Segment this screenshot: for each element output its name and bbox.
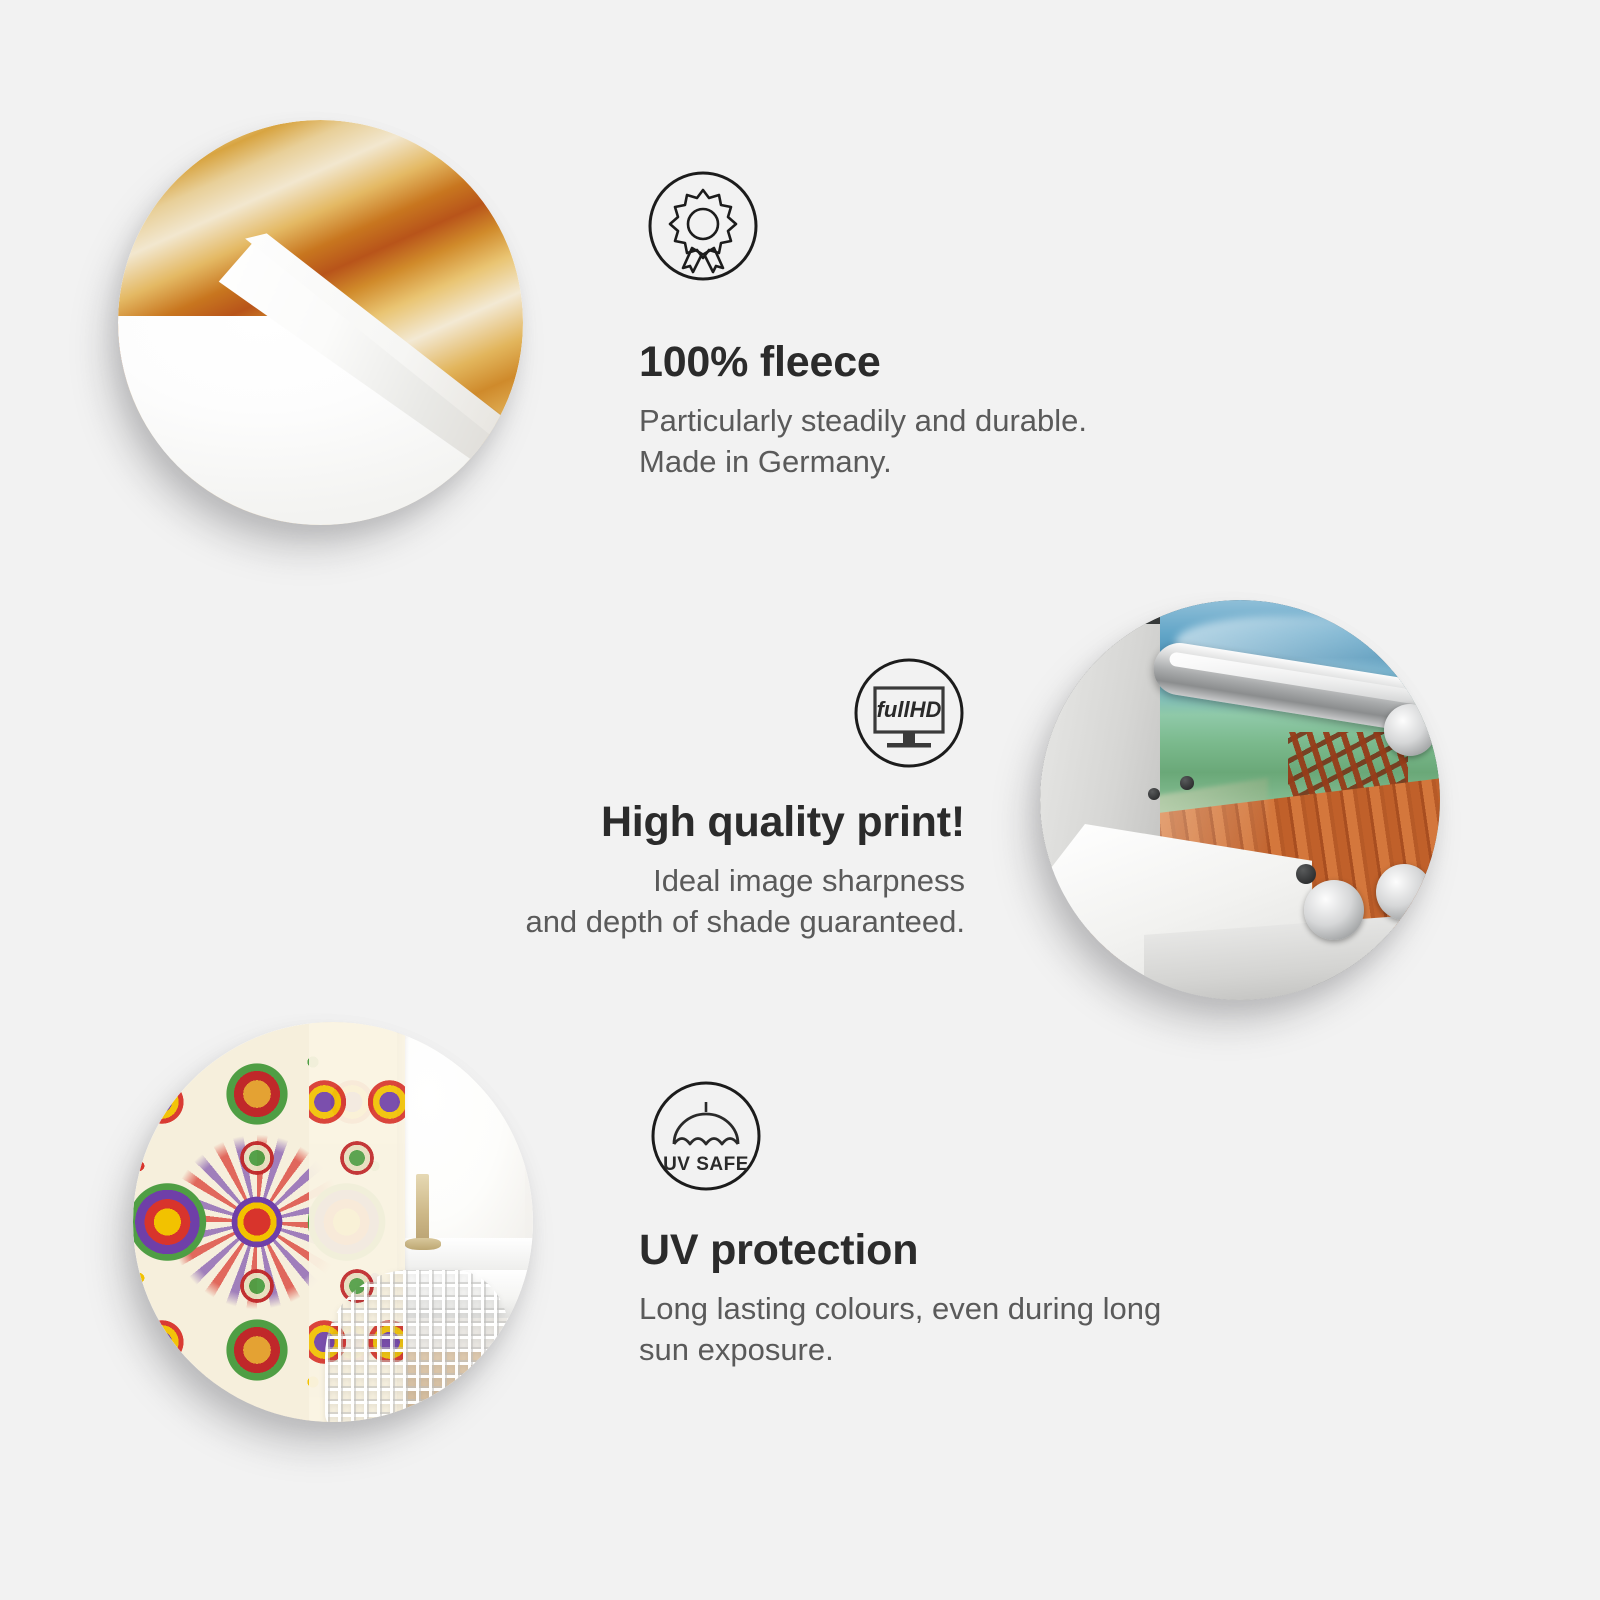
feature-fleece-text: 100% fleece Particularly steadily and du… — [639, 340, 1339, 483]
photo-clip — [133, 1022, 533, 1422]
printer-wheel — [1304, 880, 1364, 940]
feature-uv-body-line1: Long lasting colours, even during long — [639, 1289, 1359, 1330]
mandala-wallpaper-room-photo — [133, 1022, 533, 1422]
candlestick — [416, 1174, 429, 1246]
feature-print-text: High quality print! Ideal image sharpnes… — [265, 800, 965, 943]
feature-print-heading: High quality print! — [265, 800, 965, 845]
candlestick-base — [405, 1238, 441, 1250]
uv-safe-umbrella-icon: UV SAFE — [648, 1078, 764, 1194]
feature-fleece-body-line1: Particularly steadily and durable. — [639, 401, 1339, 442]
feature-uv-body-line2: sun exposure. — [639, 1330, 1359, 1371]
printer-wheel — [1384, 704, 1436, 756]
feature-print-body-line1: Ideal image sharpness — [265, 861, 965, 902]
infographic-stage: 100% fleece Particularly steadily and du… — [0, 0, 1600, 1600]
wire-chair — [325, 1270, 509, 1422]
fullhd-label: fullHD — [877, 697, 942, 722]
feature-fleece-heading: 100% fleece — [639, 340, 1339, 385]
wallpaper-peel-photo — [118, 120, 523, 525]
feature-uv-text: UV protection Long lasting colours, even… — [639, 1228, 1359, 1371]
printer-knob — [1148, 788, 1160, 800]
photo-clip — [118, 120, 523, 525]
feature-fleece-body-line2: Made in Germany. — [639, 442, 1339, 483]
printer-knob — [1180, 776, 1194, 790]
printer-knob — [1296, 864, 1316, 884]
award-rosette-icon — [645, 168, 761, 284]
feature-uv-heading: UV protection — [639, 1228, 1359, 1273]
feature-print-body-line2: and depth of shade guaranteed. — [265, 902, 965, 943]
printer-wheel — [1376, 864, 1432, 920]
fullhd-monitor-icon: fullHD — [851, 655, 967, 771]
uv-safe-label: UV SAFE — [663, 1154, 749, 1175]
photo-clip — [1040, 600, 1440, 1000]
large-format-printer-photo — [1040, 600, 1440, 1000]
